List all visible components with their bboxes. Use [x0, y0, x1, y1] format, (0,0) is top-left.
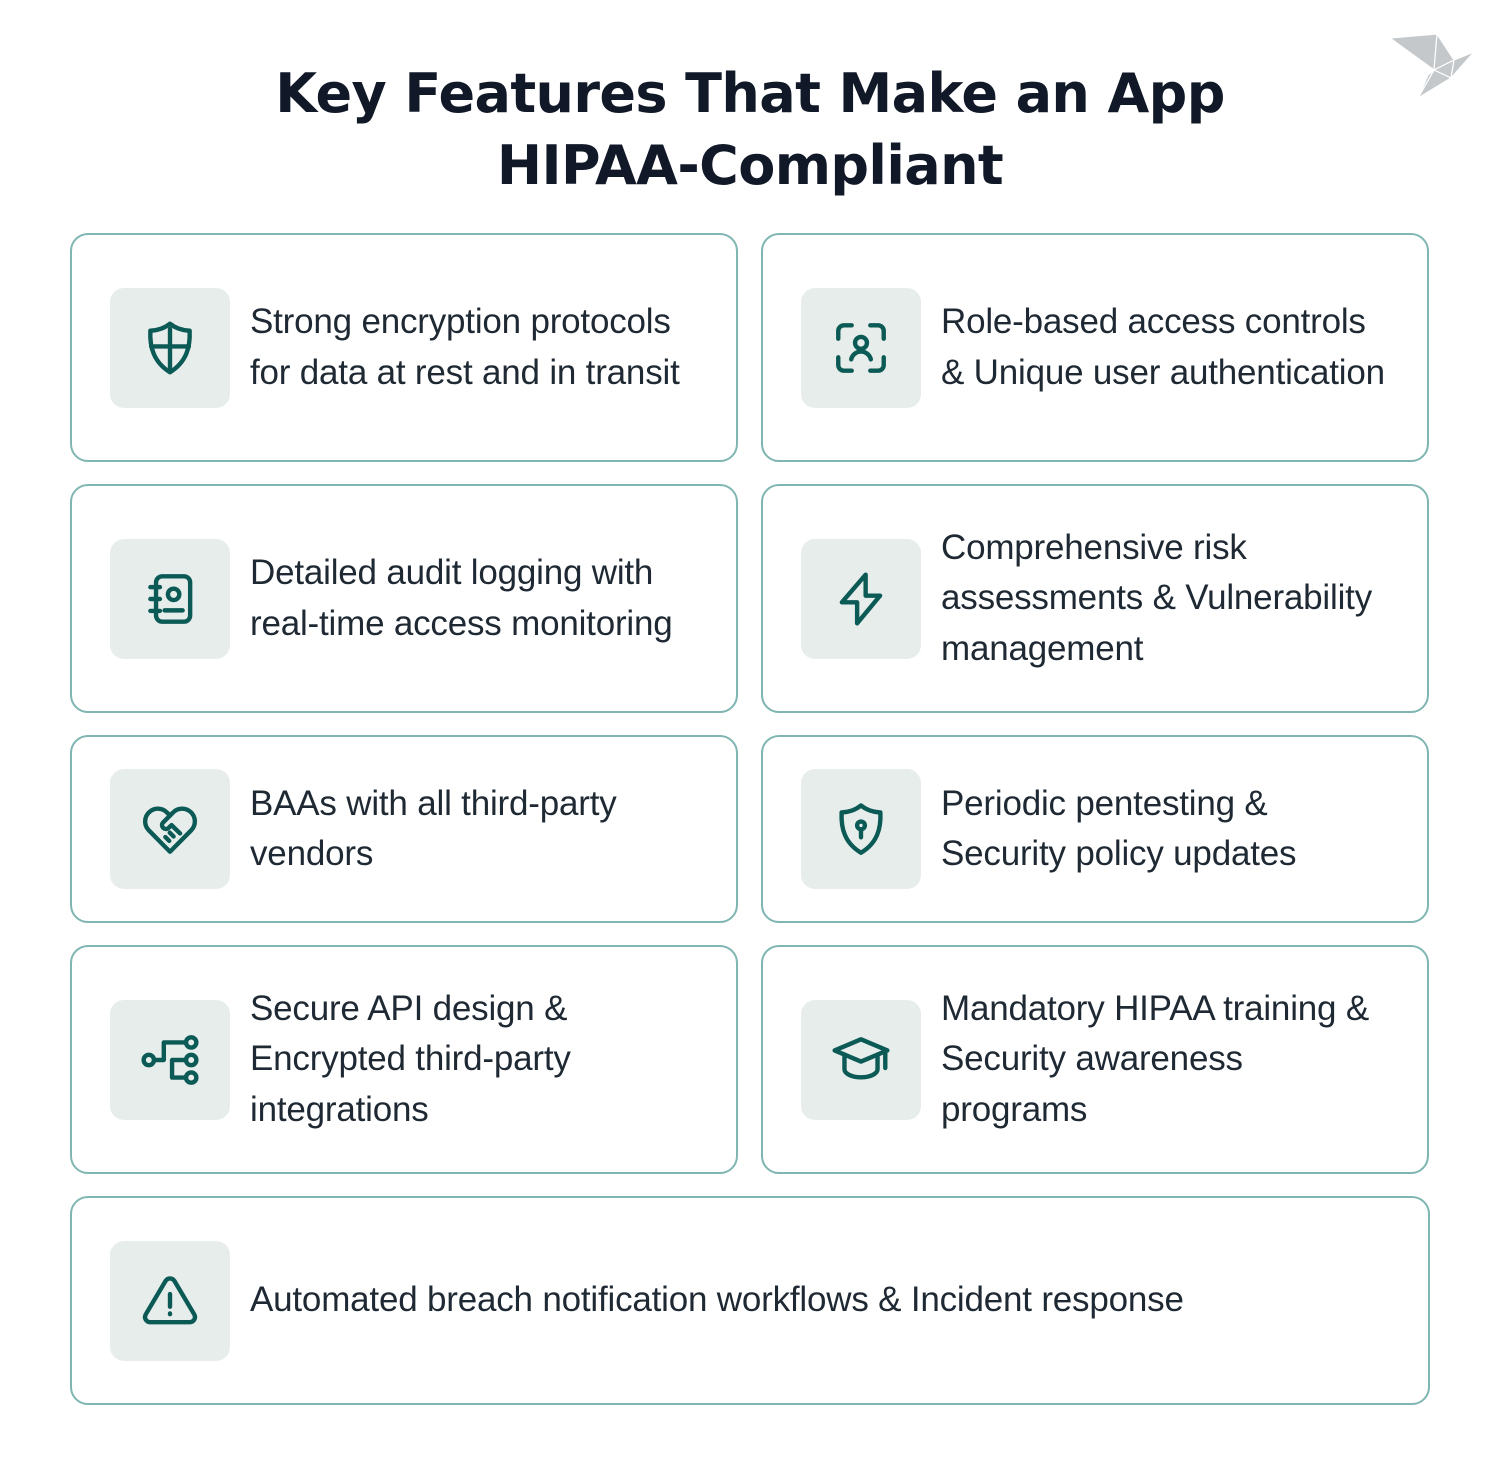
warning-triangle-icon — [110, 1241, 230, 1361]
feature-card-text: Role-based access controls & Unique user… — [941, 297, 1397, 397]
contact-book-icon — [110, 539, 230, 659]
lightning-bolt-icon — [801, 539, 921, 659]
feature-card-secure-api-design[interactable]: Secure API design & Encrypted third-part… — [70, 945, 738, 1174]
feature-card-risk-assessments[interactable]: Comprehensive risk assessments & Vulnera… — [761, 484, 1429, 713]
feature-card-hipaa-training[interactable]: Mandatory HIPAA training & Security awar… — [761, 945, 1429, 1174]
user-scan-icon — [801, 288, 921, 408]
feature-card-text: Periodic pentesting & Security policy up… — [941, 779, 1397, 879]
network-tree-icon — [110, 1000, 230, 1120]
feature-card-audit-logging[interactable]: Detailed audit logging with real-time ac… — [70, 484, 738, 713]
page-title: Key Features That Make an App HIPAA-Comp… — [180, 0, 1320, 203]
feature-card-role-based-access[interactable]: Role-based access controls & Unique user… — [761, 233, 1429, 462]
origami-bird-logo — [1388, 18, 1480, 102]
feature-card-strong-encryption[interactable]: Strong encryption protocols for data at … — [70, 233, 738, 462]
feature-card-text: Strong encryption protocols for data at … — [250, 297, 706, 397]
graduation-cap-icon — [801, 1000, 921, 1120]
feature-card-text: Comprehensive risk assessments & Vulnera… — [941, 523, 1397, 673]
page-title-line-1: Key Features That Make an App — [180, 58, 1320, 130]
feature-card-text: Secure API design & Encrypted third-part… — [250, 984, 706, 1134]
feature-card-periodic-pentesting[interactable]: Periodic pentesting & Security policy up… — [761, 735, 1429, 923]
page-title-line-2: HIPAA-Compliant — [180, 130, 1320, 202]
feature-card-baas-vendors[interactable]: BAAs with all third-party vendors — [70, 735, 738, 923]
shield-cross-icon — [110, 288, 230, 408]
feature-card-text: Mandatory HIPAA training & Security awar… — [941, 984, 1397, 1134]
feature-card-text: Detailed audit logging with real-time ac… — [250, 548, 706, 648]
feature-cards-grid: Strong encryption protocols for data at … — [70, 233, 1430, 1405]
feature-card-text: BAAs with all third-party vendors — [250, 779, 706, 879]
heart-handshake-icon — [110, 769, 230, 889]
feature-card-text: Automated breach notification workflows … — [250, 1275, 1184, 1325]
feature-card-breach-notification[interactable]: Automated breach notification workflows … — [70, 1196, 1430, 1405]
shield-keyhole-icon — [801, 769, 921, 889]
